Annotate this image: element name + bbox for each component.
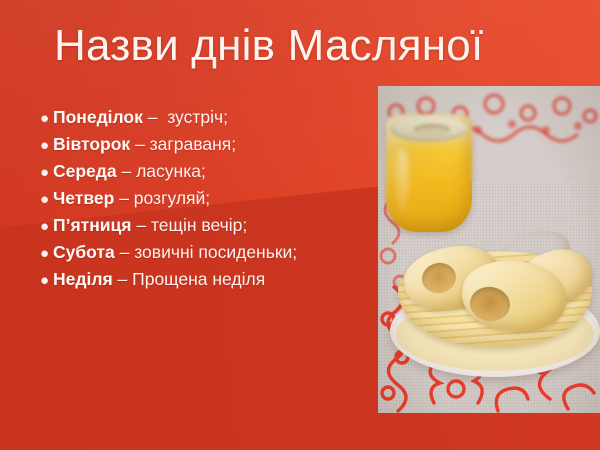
list-item-day: Понеділок <box>53 107 143 128</box>
list-item: ● Субота – зовичні посиденьки; <box>40 242 380 269</box>
list-item-description: – заграваня; <box>130 134 236 155</box>
pancakes-photo <box>378 86 600 413</box>
bullet-dot-icon: ● <box>40 192 53 207</box>
list-item-description: – Прощена неділя <box>113 269 266 290</box>
list-item-description: – тещін вечір; <box>132 215 248 236</box>
list-item-description: – зовичні посиденьки; <box>115 242 297 263</box>
list-item: ● Четвер – розгуляй; <box>40 188 380 215</box>
bullet-dot-icon: ● <box>40 165 53 180</box>
honey-jar <box>386 114 472 232</box>
bullet-dot-icon: ● <box>40 111 53 126</box>
bullet-dot-icon: ● <box>40 246 53 261</box>
list-item-day: Четвер <box>53 188 114 209</box>
list-item-day: П’ятниця <box>53 215 132 236</box>
page-title: Назви днів Масляної <box>54 22 483 70</box>
jar-highlight <box>396 148 409 214</box>
slide-canvas: Назви днів Масляної ● Понеділок – зустрі… <box>0 0 600 450</box>
bullet-dot-icon: ● <box>40 219 53 234</box>
list-item-day: Середа <box>53 161 117 182</box>
list-item: ● Понеділок – зустріч; <box>40 107 380 134</box>
list-item-day: Неділя <box>53 269 113 290</box>
day-names-list: ● Понеділок – зустріч; ● Вівторок – загр… <box>40 107 380 296</box>
list-item-description: – зустріч; <box>143 107 228 128</box>
jar-rim <box>390 116 468 142</box>
list-item-description: – розгуляй; <box>114 188 210 209</box>
list-item-day: Субота <box>53 242 115 263</box>
list-item: ● Вівторок – заграваня; <box>40 134 380 161</box>
list-item: ● П’ятниця – тещін вечір; <box>40 215 380 242</box>
list-item: ● Середа – ласунка; <box>40 161 380 188</box>
list-item-description: – ласунка; <box>117 161 206 182</box>
jar-rim-inner <box>414 124 450 136</box>
list-item: ● Неділя – Прощена неділя <box>40 269 380 296</box>
list-item-day: Вівторок <box>53 134 130 155</box>
bullet-dot-icon: ● <box>40 273 53 288</box>
bullet-dot-icon: ● <box>40 138 53 153</box>
